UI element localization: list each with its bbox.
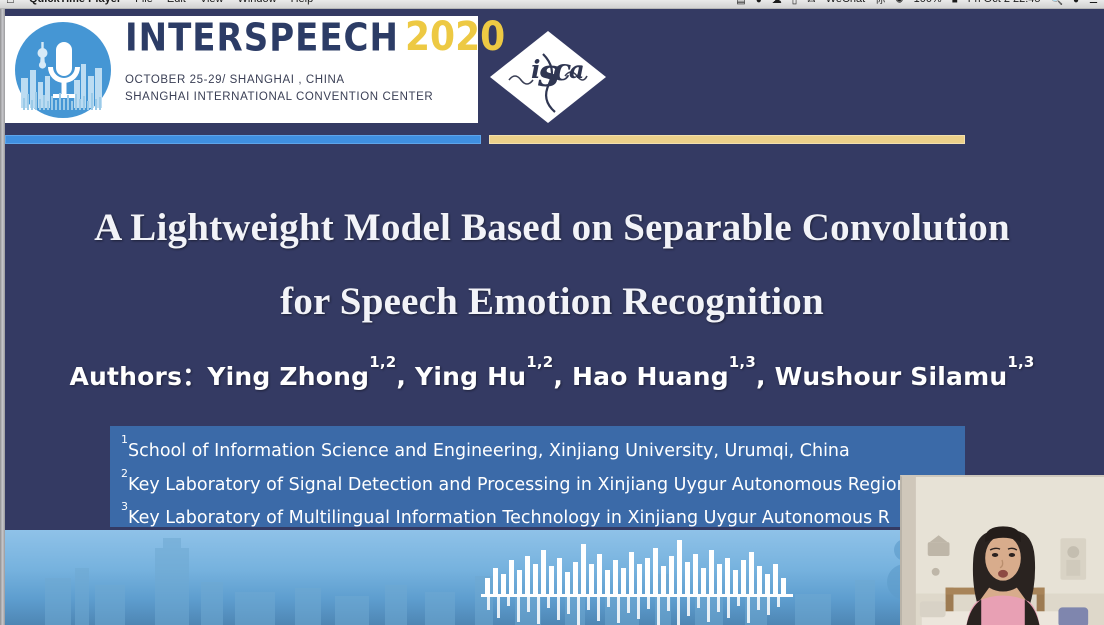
wechat-status-label[interactable]: WeChat xyxy=(826,0,866,6)
menu-item-file[interactable]: File xyxy=(135,0,153,6)
affiliation-marker-2: 2 xyxy=(121,467,128,480)
divider-bar-gold xyxy=(489,135,965,144)
battery-percent-label[interactable]: 100% xyxy=(914,0,942,6)
display-icon[interactable]: ▯ xyxy=(792,0,798,6)
apple-menu-icon[interactable]:  xyxy=(6,0,15,6)
title-line-2: for Speech Emotion Recognition xyxy=(0,265,1104,339)
menu-item-view[interactable]: View xyxy=(200,0,224,6)
page-title: A Lightweight Model Based on Separable C… xyxy=(0,191,1104,339)
author-name-4: Wushour Silamu xyxy=(775,362,1008,391)
authors-label: Authors： xyxy=(69,362,207,391)
screen:  QuickTime Player File Edit View Window… xyxy=(0,0,1104,625)
conference-title-block: INTERSPEECH 2020 OCTOBER 25-29/ SHANGHAI… xyxy=(125,22,475,105)
interspeech-wordmark: INTERSPEECH 2020 xyxy=(125,22,475,58)
presenter-webcam-video[interactable] xyxy=(900,475,1104,625)
affiliation-text-2: Key Laboratory of Signal Detection and P… xyxy=(128,475,908,495)
author-affil-sup-2: 1,2 xyxy=(526,353,553,371)
conference-dates: OCTOBER 25-29/ SHANGHAI , CHINA xyxy=(125,72,475,89)
affiliation-row-1: 1School of Information Science and Engin… xyxy=(121,435,965,469)
affiliation-text-3: Key Laboratory of Multilingual Informati… xyxy=(128,508,890,528)
slide-left-border xyxy=(0,9,5,625)
menu-bar-left:  QuickTime Player File Edit View Window… xyxy=(6,0,313,8)
affiliations-box: 1School of Information Science and Engin… xyxy=(110,426,965,527)
menu-bar-clock[interactable]: Fri Oct 2 22:45 xyxy=(968,0,1041,6)
mail-icon[interactable]: ✉ xyxy=(807,0,815,6)
interspeech-circle-logo xyxy=(11,20,115,120)
divider-bar-blue xyxy=(5,135,481,144)
menu-bar-status-area: ▤ ● ☁ ▯ ✉ WeChat 你 ✺ 100% ■ Fri Oct 2 22… xyxy=(736,0,1098,8)
macos-menu-bar[interactable]:  QuickTime Player File Edit View Window… xyxy=(0,0,1104,9)
input-source-icon[interactable]: 你 xyxy=(875,0,885,6)
affiliation-marker-1: 1 xyxy=(121,433,128,446)
webcam-frame xyxy=(902,477,1104,625)
author-sep-1: , xyxy=(396,362,415,391)
control-center-icon[interactable]: ☰ xyxy=(1089,0,1098,6)
menu-app-name[interactable]: QuickTime Player xyxy=(29,0,121,6)
cloud-icon[interactable]: ☁ xyxy=(772,0,782,6)
affiliation-marker-3: 3 xyxy=(121,500,128,513)
bluetooth-icon[interactable]: ✺ xyxy=(895,0,903,6)
author-sep-2: , xyxy=(553,362,572,391)
author-name-1: Ying Zhong xyxy=(207,362,369,391)
battery-icon[interactable]: ■ xyxy=(952,0,958,6)
affiliation-text-1: School of Information Science and Engine… xyxy=(128,441,850,461)
conference-venue: SHANGHAI INTERNATIONAL CONVENTION CENTER xyxy=(125,89,475,106)
conference-details: OCTOBER 25-29/ SHANGHAI , CHINA SHANGHAI… xyxy=(125,72,475,105)
dropbox-icon[interactable]: ▤ xyxy=(736,0,745,6)
conference-header-band: INTERSPEECH 2020 OCTOBER 25-29/ SHANGHAI… xyxy=(5,16,478,123)
authors-line: Authors：Ying Zhong1,2, Ying Hu1,2, Hao H… xyxy=(0,357,1104,393)
author-affil-sup-3: 1,3 xyxy=(729,353,756,371)
author-name-3: Hao Huang xyxy=(572,362,729,391)
menu-item-edit[interactable]: Edit xyxy=(167,0,186,6)
affiliation-row-2: 2Key Laboratory of Signal Detection and … xyxy=(121,469,965,503)
author-affil-sup-1: 1,2 xyxy=(369,353,396,371)
presentation-slide: INTERSPEECH 2020 OCTOBER 25-29/ SHANGHAI… xyxy=(0,9,1104,625)
chat-icon[interactable]: ● xyxy=(756,0,762,6)
title-line-1: A Lightweight Model Based on Separable C… xyxy=(94,206,1010,249)
search-icon[interactable]: 🔍 xyxy=(1051,0,1063,6)
menu-item-window[interactable]: Window xyxy=(237,0,276,6)
menu-item-help[interactable]: Help xyxy=(291,0,314,6)
author-affil-sup-4: 1,3 xyxy=(1007,353,1034,371)
svg-text:a: a xyxy=(569,55,585,84)
author-sep-3: , xyxy=(756,362,775,391)
isca-logo-icon: i s c a xyxy=(487,28,609,126)
siri-icon[interactable]: ● xyxy=(1073,0,1079,6)
interspeech-name: INTERSPEECH xyxy=(125,19,399,57)
author-name-2: Ying Hu xyxy=(415,362,526,391)
